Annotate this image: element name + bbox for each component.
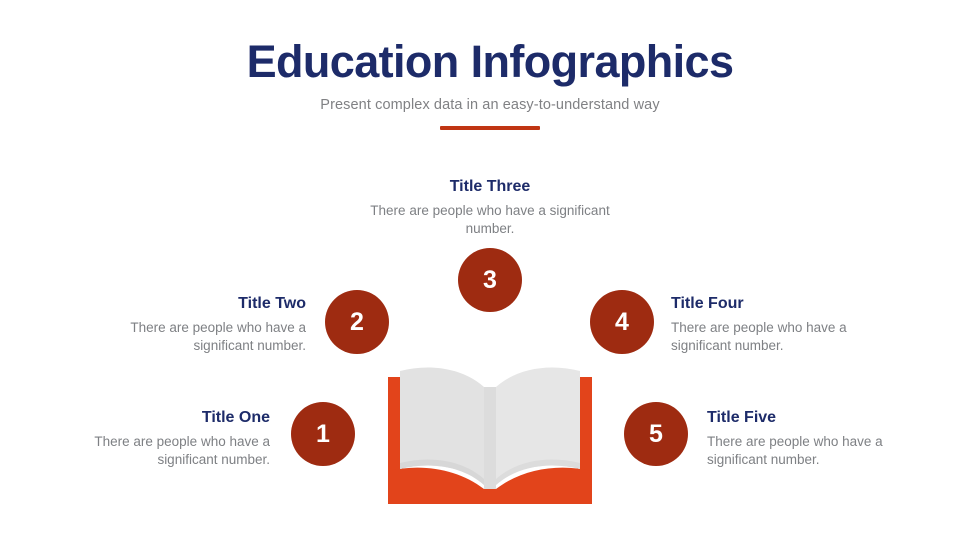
slide-header: Education Infographics Present complex d… bbox=[0, 38, 980, 130]
page-title: Education Infographics bbox=[0, 38, 980, 85]
page-subtitle: Present complex data in an easy-to-under… bbox=[0, 97, 980, 113]
step-description-1: There are people who have a significant … bbox=[90, 433, 270, 469]
step-number-badge-5[interactable]: 5 bbox=[624, 402, 688, 466]
step-block-4: Title Four There are people who have a s… bbox=[671, 294, 861, 355]
step-block-5: Title Five There are people who have a s… bbox=[707, 408, 897, 469]
step-title-3: Title Three bbox=[358, 177, 622, 196]
step-number-badge-1[interactable]: 1 bbox=[291, 402, 355, 466]
step-number-badge-4[interactable]: 4 bbox=[590, 290, 654, 354]
open-book-icon bbox=[388, 363, 592, 504]
step-title-4: Title Four bbox=[671, 294, 861, 313]
step-description-2: There are people who have a significant … bbox=[120, 319, 306, 355]
step-description-3: There are people who have a significant … bbox=[358, 202, 622, 238]
step-description-4: There are people who have a significant … bbox=[671, 319, 861, 355]
step-title-1: Title One bbox=[90, 408, 270, 427]
step-title-5: Title Five bbox=[707, 408, 897, 427]
step-block-3: Title Three There are people who have a … bbox=[358, 177, 622, 238]
step-title-2: Title Two bbox=[120, 294, 306, 313]
step-number-badge-2[interactable]: 2 bbox=[325, 290, 389, 354]
step-block-1: Title One There are people who have a si… bbox=[90, 408, 270, 469]
infographic-slide: Education Infographics Present complex d… bbox=[0, 0, 980, 551]
step-block-2: Title Two There are people who have a si… bbox=[120, 294, 306, 355]
step-number-badge-3[interactable]: 3 bbox=[458, 248, 522, 312]
step-description-5: There are people who have a significant … bbox=[707, 433, 897, 469]
title-divider bbox=[440, 126, 540, 130]
